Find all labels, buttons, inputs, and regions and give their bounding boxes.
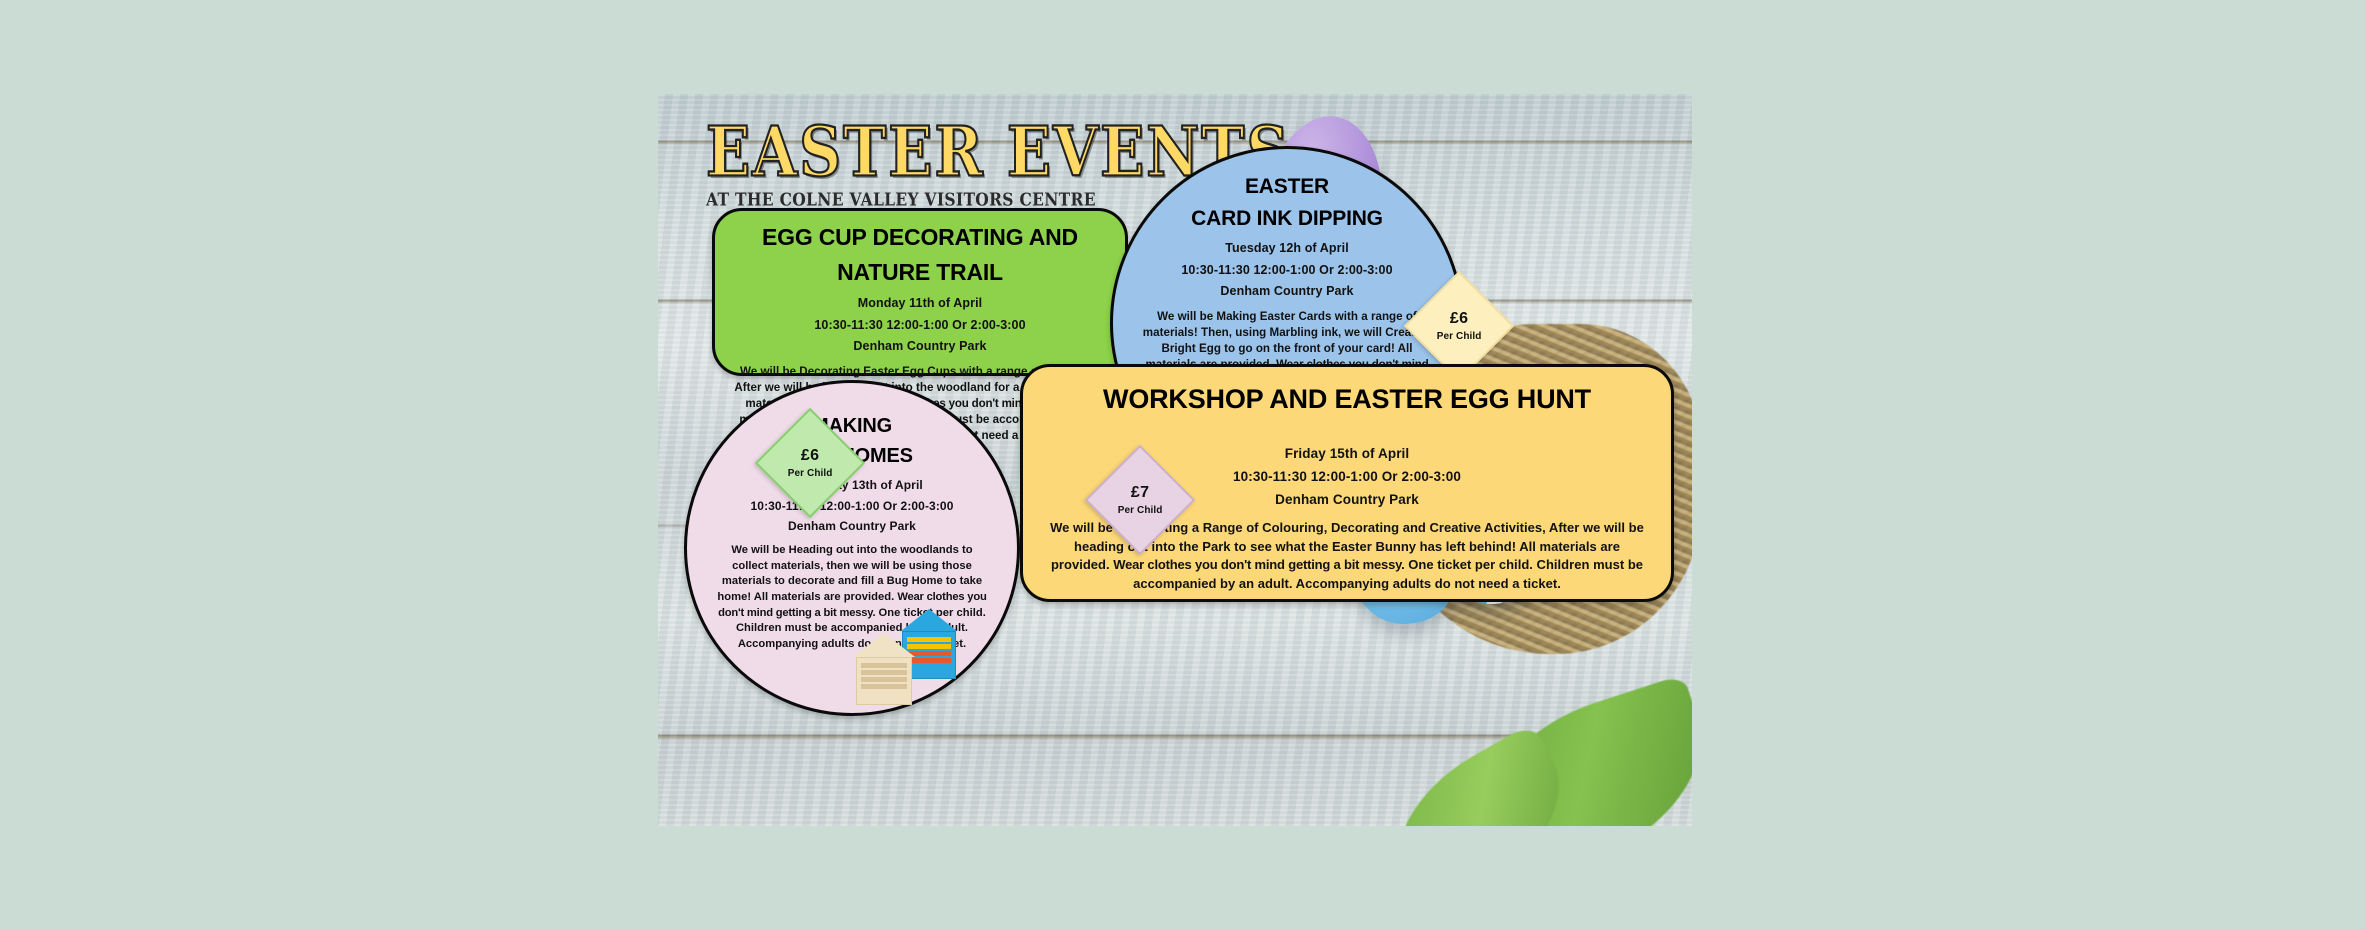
- bug-homes-photo: [847, 609, 987, 697]
- event-times: 10:30-11:30 12:00-1:00 Or 2:00-3:00: [715, 315, 1125, 337]
- event-title-line-1: EASTER: [1113, 171, 1461, 203]
- event-location: Denham Country Park: [715, 336, 1125, 358]
- event-meta: Monday 11th of April 10:30-11:30 12:00-1…: [715, 293, 1125, 358]
- event-title-line-2: CARD INK DIPPING: [1113, 203, 1461, 235]
- event-times: 10:30-11:30 12:00-1:00 Or 2:00-3:00: [687, 496, 1017, 517]
- event-meta: Wednesday 13th of April 10:30-11:30 12:0…: [687, 475, 1017, 537]
- price-amount: £7: [1118, 483, 1163, 503]
- event-card-making-bug-homes[interactable]: MAKING BUG HOMES Wednesday 13th of April…: [684, 380, 1020, 716]
- event-title-line-1: MAKING: [687, 411, 1017, 441]
- event-location: Denham Country Park: [1113, 281, 1461, 303]
- poster-subtitle: AT THE COLNE VALLEY VISITORS CENTRE: [706, 189, 1096, 210]
- easter-events-poster: EASTER EVENTS AT THE COLNE VALLEY VISITO…: [658, 94, 1692, 826]
- price-amount: £6: [788, 446, 833, 466]
- wooden-bug-house-icon: [853, 633, 915, 705]
- event-title: WORKSHOP AND EASTER EGG HUNT: [1023, 367, 1671, 420]
- price-amount: £6: [1437, 309, 1482, 329]
- event-date: Friday 15th of April: [1023, 442, 1671, 465]
- price-per-label: Per Child: [788, 468, 833, 481]
- event-date: Monday 11th of April: [715, 293, 1125, 315]
- price-per-label: Per Child: [1437, 331, 1482, 344]
- event-card-egg-cup-decorating[interactable]: EGG CUP DECORATING AND NATURE TRAIL Mond…: [712, 208, 1128, 376]
- event-title: EASTER CARD INK DIPPING: [1113, 149, 1461, 234]
- event-title-line-2: NATURE TRAIL: [715, 255, 1125, 290]
- event-description-emphasis: Wear clothes you don't mind getting a bi…: [1113, 557, 1404, 572]
- event-times: 10:30-11:30 12:00-1:00 Or 2:00-3:00: [1113, 260, 1461, 282]
- event-location: Denham Country Park: [687, 516, 1017, 537]
- event-title-line-1: EGG CUP DECORATING AND: [715, 220, 1125, 255]
- event-date: Tuesday 12h of April: [1113, 238, 1461, 260]
- event-meta: Tuesday 12h of April 10:30-11:30 12:00-1…: [1113, 238, 1461, 303]
- event-date: Wednesday 13th of April: [687, 475, 1017, 496]
- price-per-label: Per Child: [1118, 505, 1163, 518]
- event-title: EGG CUP DECORATING AND NATURE TRAIL: [715, 211, 1125, 289]
- event-title-line-1: WORKSHOP AND EASTER EGG HUNT: [1023, 379, 1671, 420]
